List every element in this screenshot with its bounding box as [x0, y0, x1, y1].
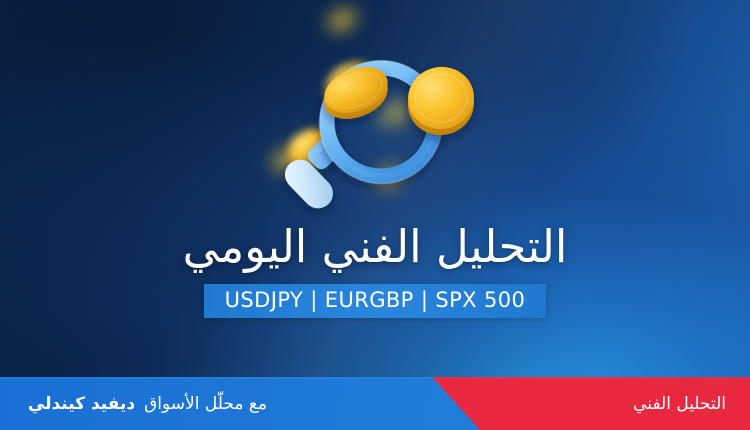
footer-analyst-name: ديفيد كيندلي [28, 394, 135, 414]
ticker-badge: USDJPY | EURGBP | SPX 500 [204, 284, 547, 318]
page-title: التحليل الفني اليومي [0, 222, 750, 272]
footer-analyst-credit: مع محلّل الأسواق ديفيد كيندلي [18, 377, 273, 430]
ticker-badge-container: USDJPY | EURGBP | SPX 500 [0, 284, 750, 318]
promo-banner: التحليل الفني اليومي USDJPY | EURGBP | S… [0, 0, 750, 430]
footer-credit-lead: مع محلّل الأسواق [144, 394, 267, 414]
footer-category-label-container: التحليل الفني [633, 377, 726, 430]
magnifying-glass-with-coins-illustration [263, 0, 513, 220]
footer-bar: مع محلّل الأسواق ديفيد كيندلي التحليل ال… [0, 377, 750, 430]
footer-category-label: التحليل الفني [633, 394, 726, 414]
coin-blurred-top [311, 0, 373, 49]
